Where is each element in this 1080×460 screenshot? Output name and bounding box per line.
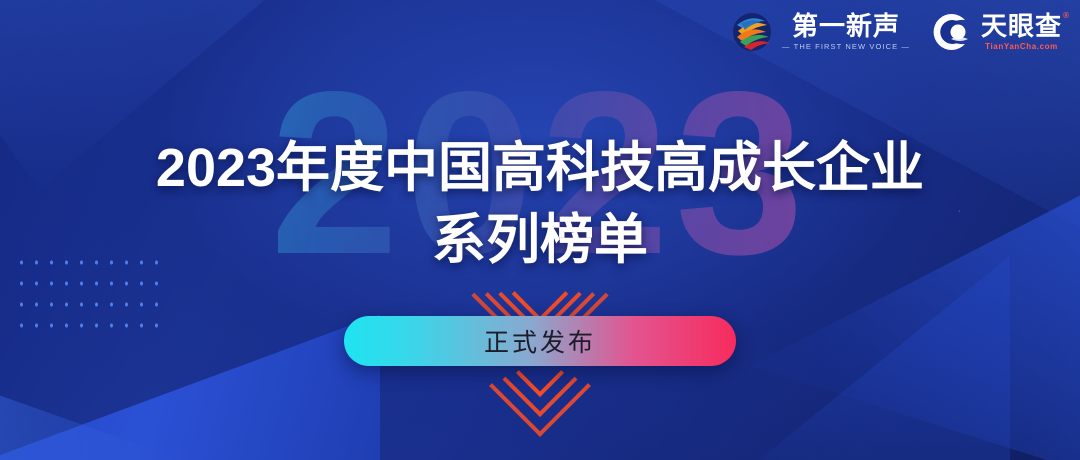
headline-line-2: 系列榜单	[0, 204, 1080, 276]
first-new-voice-swirl-icon	[731, 12, 773, 52]
tianyancha-wordmark: 天眼查 ® TianYanCha.com	[981, 13, 1062, 50]
logo-bar: 第一新声 — THE FIRST NEW VOICE — 天眼查 ® TianY…	[731, 12, 1062, 52]
promo-banner: 2023 2023年度中国高科技高成长企业 系列榜单 正式发布 第一新声 — T…	[0, 0, 1080, 460]
headline-line-1: 2023年度中国高科技高成长企业	[156, 138, 924, 198]
bg-shape-bottom-left-triangle	[0, 280, 380, 460]
first-new-voice-name-cn: 第一新声	[792, 13, 900, 40]
tianyancha-trademark: ®	[1063, 11, 1069, 20]
tianyancha-lens-icon	[932, 12, 972, 52]
bg-shape-bottom-left-triangle-2	[0, 320, 210, 460]
tianyancha-domain: TianYanCha.com	[985, 42, 1058, 51]
logo-first-new-voice[interactable]: 第一新声 — THE FIRST NEW VOICE —	[731, 12, 910, 52]
release-status-label: 正式发布	[484, 323, 596, 359]
logo-tianyancha[interactable]: 天眼查 ® TianYanCha.com	[932, 12, 1062, 52]
tianyancha-name-cn: 天眼查	[981, 13, 1062, 40]
release-status-pill[interactable]: 正式发布	[344, 316, 736, 366]
first-new-voice-tagline: — THE FIRST NEW VOICE —	[782, 42, 910, 51]
page-title: 2023年度中国高科技高成长企业 系列榜单	[0, 132, 1080, 276]
first-new-voice-wordmark: 第一新声 — THE FIRST NEW VOICE —	[782, 13, 910, 51]
